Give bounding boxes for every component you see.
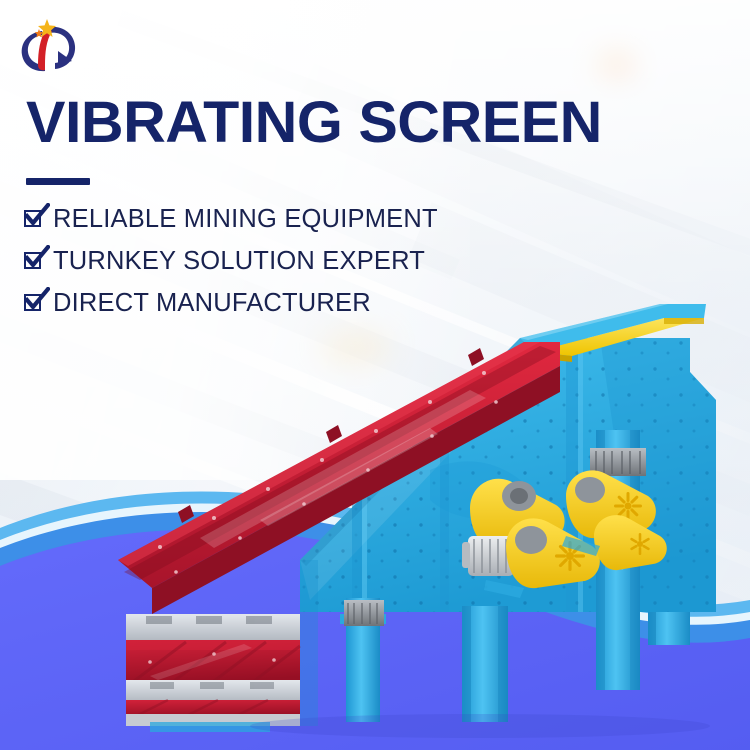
deck-stack bbox=[126, 614, 300, 732]
drive-motor bbox=[462, 536, 514, 576]
feature-label: RELIABLE MINING EQUIPMENT bbox=[53, 205, 438, 234]
checkbox-checked-icon bbox=[24, 209, 44, 229]
checkbox-checked-icon bbox=[24, 251, 44, 271]
screen-deck-middle bbox=[126, 640, 300, 684]
support-column-front-center bbox=[462, 606, 508, 722]
feature-list: RELIABLE MINING EQUIPMENT TURNKEY SOLUTI… bbox=[24, 200, 624, 326]
checkbox-checked-icon bbox=[24, 293, 44, 313]
company-logo-icon[interactable] bbox=[14, 17, 86, 79]
page-title: VIBRATING SCREEN bbox=[26, 93, 679, 152]
product-banner: VIBRATING SCREEN RELIABLE MINING EQUIPME… bbox=[0, 0, 750, 750]
list-item: TURNKEY SOLUTION EXPERT bbox=[24, 242, 624, 280]
list-item: RELIABLE MINING EQUIPMENT bbox=[24, 200, 624, 238]
list-item: DIRECT MANUFACTURER bbox=[24, 284, 624, 322]
feature-label: DIRECT MANUFACTURER bbox=[53, 289, 371, 318]
feature-label: TURNKEY SOLUTION EXPERT bbox=[53, 247, 425, 276]
title-divider bbox=[26, 178, 90, 185]
spring-damper-left bbox=[344, 600, 384, 626]
